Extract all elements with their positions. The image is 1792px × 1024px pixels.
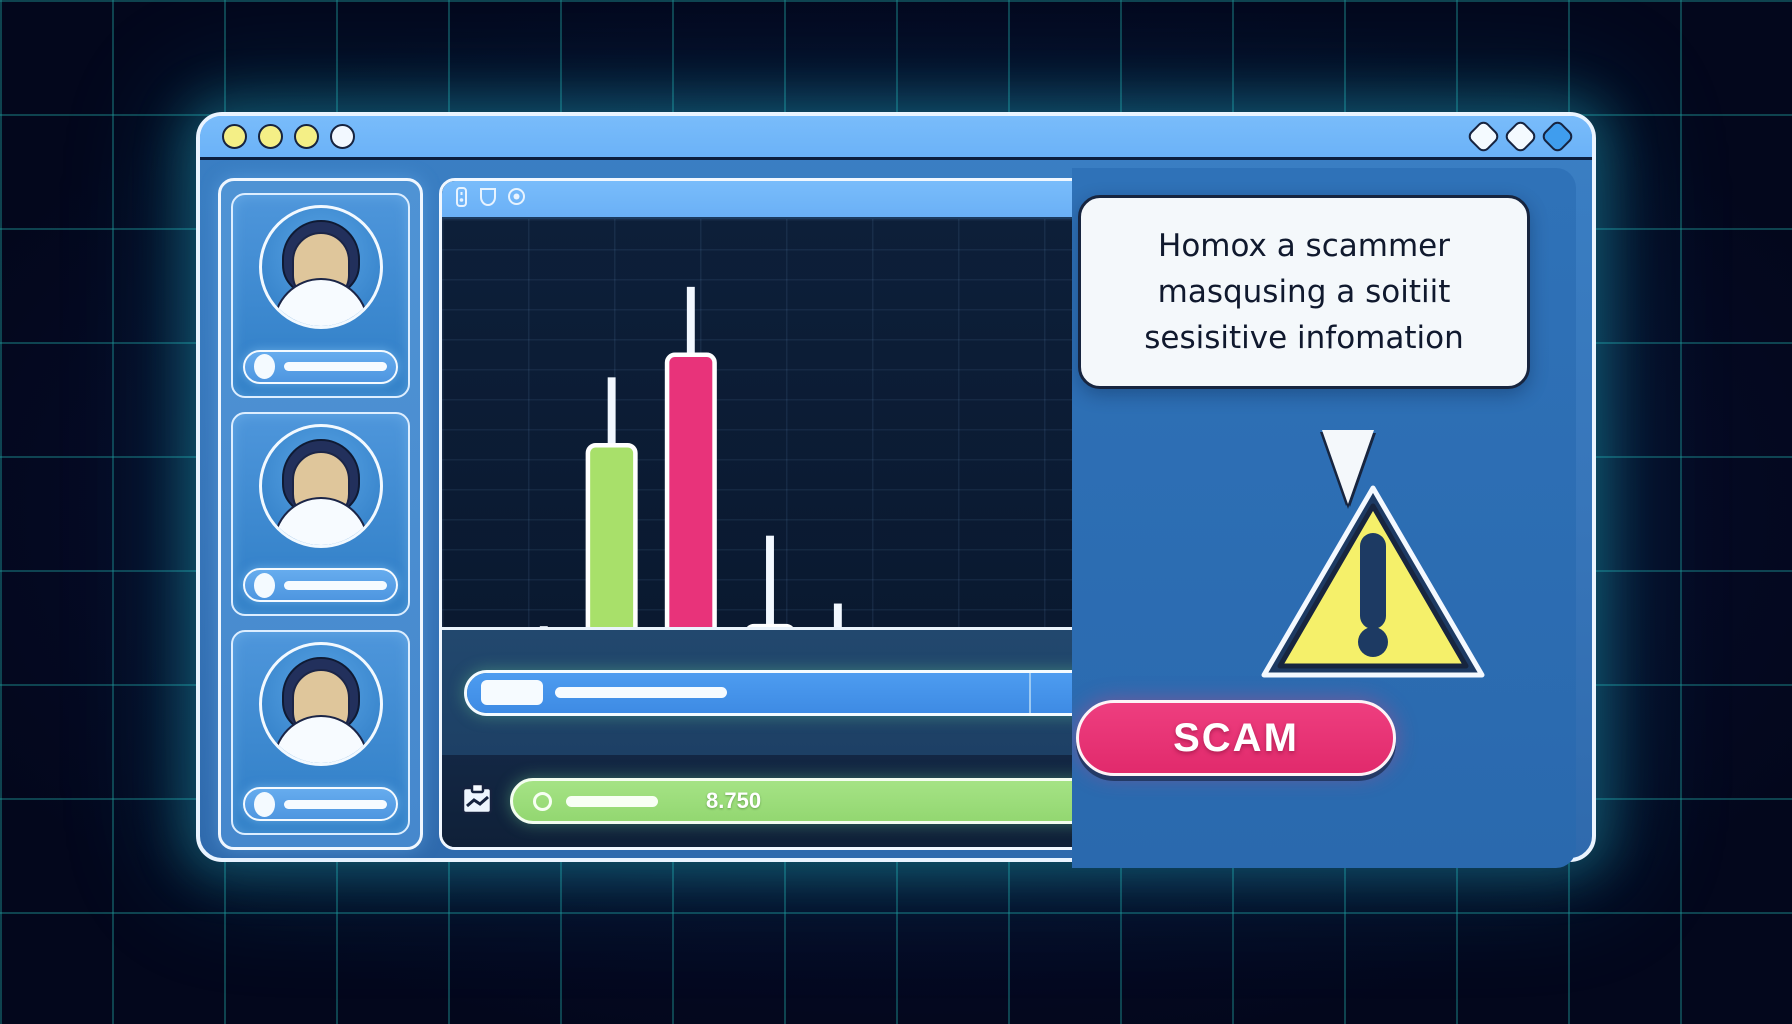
warning-triangle-icon	[1258, 480, 1488, 690]
list-item[interactable]	[231, 193, 410, 398]
pill-name-bar	[284, 581, 387, 590]
avatar	[259, 205, 383, 329]
contacts-sidebar	[218, 178, 423, 850]
stat-bar	[566, 796, 658, 807]
avatar-body	[273, 715, 369, 766]
toolbar-icon-group	[454, 186, 526, 213]
scam-alert-panel: Homox a scammer masqusing a soitiit sesi…	[1072, 168, 1576, 868]
window-dot-4[interactable]	[330, 124, 355, 149]
pill-dot-icon	[254, 792, 275, 817]
avatar-body	[273, 497, 369, 548]
window-dot-1[interactable]	[222, 124, 247, 149]
pill-dot-icon	[254, 573, 275, 598]
speech-bubble: Homox a scammer masqusing a soitiit sesi…	[1078, 195, 1530, 389]
clipboard-icon[interactable]	[460, 782, 494, 821]
window-controls-left	[222, 124, 355, 149]
speech-bubble-text: Homox a scammer masqusing a soitiit sesi…	[1103, 224, 1505, 362]
stat-ring-icon	[533, 792, 552, 811]
progress-label-bar	[555, 687, 727, 698]
window-dot-3[interactable]	[294, 124, 319, 149]
contact-name-pill[interactable]	[243, 787, 398, 821]
avatar	[259, 424, 383, 548]
title-bar	[200, 116, 1592, 160]
avatar-body	[273, 278, 369, 329]
avatar	[259, 642, 383, 766]
progress-blue-segment	[467, 673, 1029, 713]
window-controls-right	[1471, 124, 1570, 149]
pill-name-bar	[284, 800, 387, 809]
scam-button-label: SCAM	[1173, 716, 1299, 761]
pill-dot-icon	[254, 354, 275, 379]
scam-button[interactable]: SCAM	[1076, 700, 1396, 776]
list-item[interactable]	[231, 630, 410, 835]
diamond-outline-icon-2[interactable]	[1503, 119, 1538, 154]
contact-name-pill[interactable]	[243, 350, 398, 384]
list-item[interactable]	[231, 412, 410, 617]
diamond-filled-icon[interactable]	[1540, 119, 1575, 154]
target-icon[interactable]	[507, 187, 526, 211]
shield-icon[interactable]	[479, 187, 497, 212]
diamond-outline-icon-1[interactable]	[1466, 119, 1501, 154]
app-window: 86,66)000 ₿ 89	[196, 112, 1596, 862]
pill-name-bar	[284, 362, 387, 371]
progress-chip	[481, 680, 543, 705]
candlestick-icon[interactable]	[454, 186, 469, 213]
window-dot-2[interactable]	[258, 124, 283, 149]
contact-name-pill[interactable]	[243, 568, 398, 602]
stat-value-primary: 8.750	[706, 788, 761, 814]
